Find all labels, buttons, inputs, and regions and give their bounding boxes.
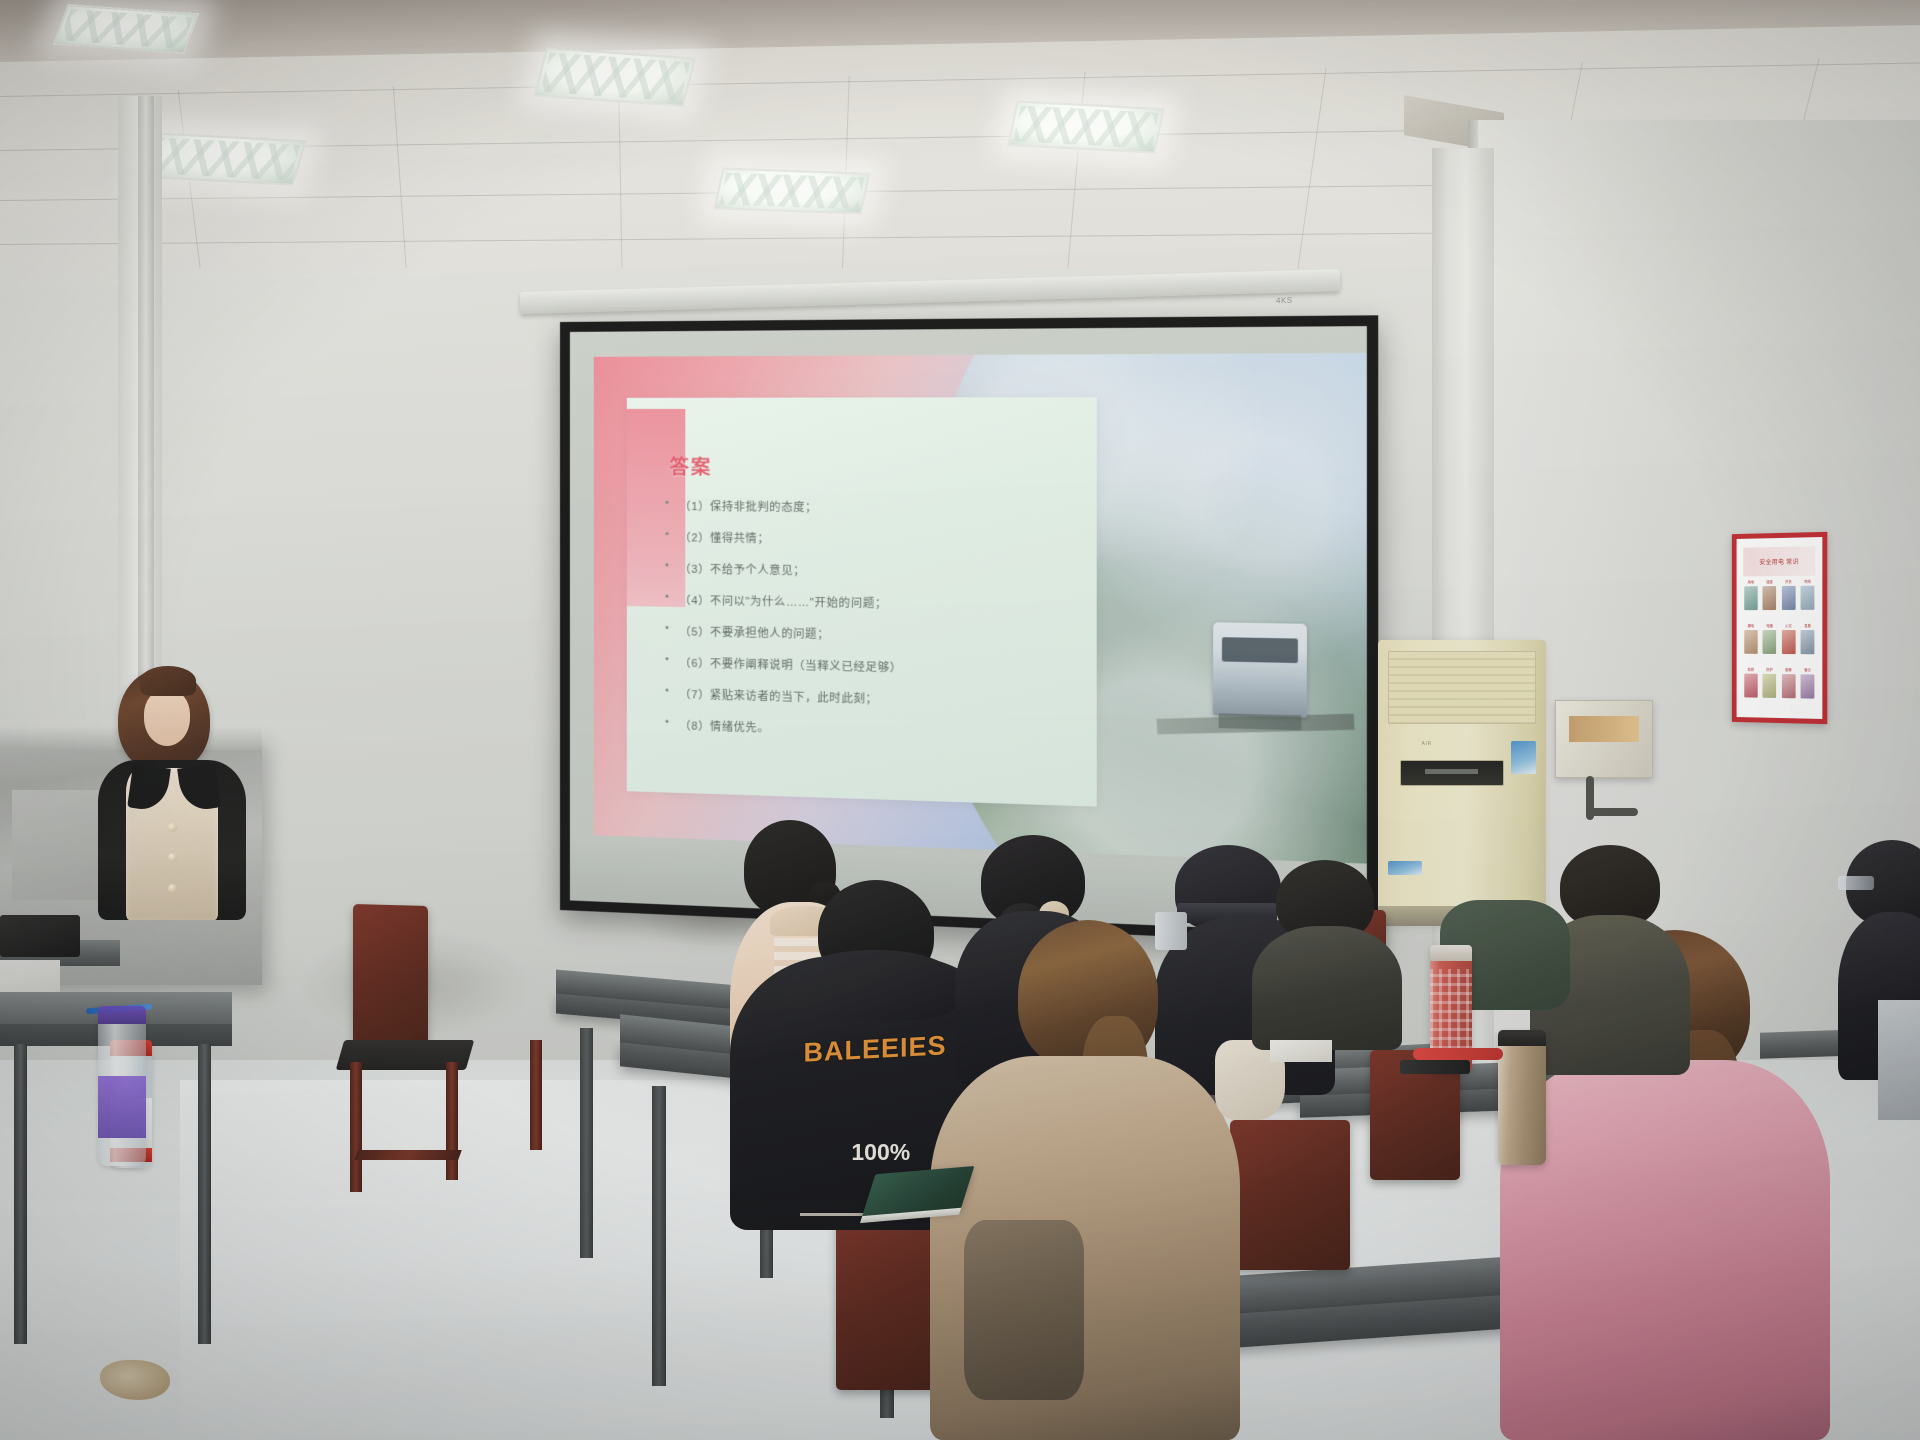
ac-brand-label: AIR — [1422, 741, 1432, 747]
desk-leg — [580, 1028, 593, 1258]
thermos-cap — [1498, 1030, 1546, 1046]
poster-cell-label: 开关 — [1785, 581, 1792, 585]
slide-bullet-text: （6）不要作阐释说明（当释义已经足够） — [680, 655, 902, 676]
poster-cell-label: 报警 — [1785, 669, 1792, 673]
ac-sticker — [1511, 741, 1536, 775]
poster-cell-icon — [1781, 674, 1795, 699]
bench-back[interactable] — [1230, 1120, 1350, 1270]
slide-bullet-item: • （6）不要作阐释说明（当释义已经足够） — [665, 654, 1070, 679]
student-tan-coat — [930, 920, 1240, 1440]
poster-cell-icon — [1801, 674, 1815, 699]
poster-cell-icon — [1781, 630, 1795, 654]
desk-leg — [198, 1044, 211, 1344]
lecturer-bangs — [140, 666, 196, 696]
poster-cell-icon — [1763, 586, 1777, 610]
bullet-marker: • — [665, 654, 669, 666]
poster-cell-icon — [1801, 586, 1815, 611]
paper-sheet[interactable] — [1270, 1040, 1332, 1062]
partial-figure-right — [1878, 1000, 1920, 1120]
vest-button — [168, 853, 177, 862]
bullet-marker: • — [665, 561, 669, 573]
slide-bullet-text: （2）懂得共情； — [680, 529, 770, 546]
poster-cell: 漏电 — [1742, 625, 1759, 667]
poster-cell: 插座 — [1761, 581, 1778, 623]
coat-shadow-fold — [964, 1220, 1084, 1400]
small-cup[interactable] — [1155, 912, 1187, 950]
poster-cell-label: 防护 — [1766, 669, 1773, 673]
bullet-marker: • — [665, 498, 669, 510]
lecturer-face — [144, 690, 190, 746]
slide-bullet-list: • （1）保持非批判的态度； • （2）懂得共情； • （3）不给予个人意见； — [665, 498, 1070, 760]
poster-cell-label: 漏电 — [1748, 625, 1755, 629]
ac-display-panel[interactable] — [1400, 760, 1504, 785]
poster-cell-icon — [1763, 630, 1777, 654]
draped-cloth — [0, 915, 80, 957]
poster-cell-label: 电器 — [1766, 625, 1773, 629]
poster-cell-label: 检修 — [1748, 669, 1755, 673]
slide-bullet-item: • （2）懂得共情； — [665, 529, 1070, 550]
slide-bullet-item: • （3）不给予个人意见； — [665, 561, 1070, 583]
poster-cell: 防护 — [1761, 669, 1778, 711]
eyeglasses — [1838, 876, 1874, 890]
vest-button — [168, 884, 177, 893]
poster-title: 安全用电 常识 — [1743, 546, 1815, 576]
ceiling-light-5 — [1007, 100, 1165, 153]
wall-mounted-service-box[interactable] — [1555, 700, 1653, 778]
chair-leg — [350, 1062, 362, 1192]
bottle-cap — [98, 1006, 146, 1024]
thermos-plaid-pattern — [1430, 969, 1472, 1049]
bullet-marker: • — [665, 717, 669, 729]
poster-cell: 开关 — [1780, 581, 1797, 623]
desk-leg — [14, 1044, 27, 1344]
poster-cell: 报警 — [1780, 669, 1797, 711]
slide-text-panel: 答案 • （1）保持非批判的态度； • （2）懂得共情； • （3）不给予个人意 — [626, 397, 1096, 807]
slide-bullet-item: • （5）不要承担他人的问题； — [665, 623, 1070, 647]
poster-icon-grid: 用电 插座 开关 电线 漏电 电器 火灾 急救 检修 防护 报警 警示 — [1742, 581, 1816, 712]
poster-cell-label: 插座 — [1766, 581, 1773, 585]
poster-cell: 急救 — [1799, 625, 1816, 667]
slide-bullet-item: • （1）保持非批判的态度； — [665, 498, 1070, 518]
poster-cell: 电器 — [1761, 625, 1778, 667]
poster-cell-label: 电线 — [1804, 581, 1811, 585]
poster-cell-icon — [1744, 673, 1758, 697]
presentation-slide: 答案 • （1）保持非批判的态度； • （2）懂得共情； • （3）不给予个人意 — [594, 353, 1367, 864]
water-bottle-purple-cap[interactable] — [98, 1006, 146, 1166]
bullet-marker: • — [665, 529, 669, 541]
empty-wooden-chair-back[interactable] — [353, 904, 428, 1056]
slide-bullet-item: • （8）情绪优先。 — [665, 717, 1070, 744]
poster-cell: 用电 — [1742, 581, 1759, 623]
thermos-cap — [1430, 945, 1472, 961]
ceiling-light-2 — [534, 47, 696, 107]
poster-cell-label: 火灾 — [1785, 625, 1792, 629]
green-notebook[interactable] — [862, 1166, 975, 1218]
poster-cell-icon — [1744, 630, 1758, 654]
desk-leg — [652, 1086, 666, 1386]
slide-bullet-text: （1）保持非批判的态度； — [680, 498, 818, 515]
chair-rail — [354, 1150, 462, 1160]
classroom-photo: 4KS 答案 • （1）保持非批判的态度； — [0, 0, 1920, 1440]
poster-cell-icon — [1781, 586, 1795, 610]
poster-cell-icon — [1801, 630, 1815, 654]
bottle-label — [98, 1076, 146, 1138]
chair-leg — [446, 1062, 458, 1180]
poster-cell: 火灾 — [1780, 625, 1797, 667]
bullet-marker: • — [665, 592, 669, 604]
ac-intake-grille — [1388, 651, 1536, 724]
slide-bullet-text: （4）不问以"为什么……"开始的问题； — [680, 592, 887, 612]
poster-cell: 电线 — [1799, 581, 1816, 623]
student-coat — [1252, 926, 1402, 1050]
stainless-steel-thermos[interactable] — [1498, 1030, 1546, 1165]
slide-bullet-item: • （4）不问以"为什么……"开始的问题； — [665, 592, 1070, 615]
ceiling-light-3 — [141, 132, 306, 185]
chair-leg — [530, 1040, 542, 1150]
slide-bullet-text: （7）紧贴来访者的当下，此时此刻； — [680, 686, 878, 707]
phone-on-desk[interactable] — [1400, 1060, 1470, 1074]
red-pencil-case[interactable] — [1413, 1048, 1503, 1060]
hoodie-graphic-subtext: 100% — [851, 1139, 910, 1166]
vest-button — [168, 823, 177, 832]
slide-bullet-text: （5）不要承担他人的问题； — [680, 623, 830, 642]
floor-standing-air-conditioner[interactable]: AIR — [1378, 640, 1546, 920]
ceiling-light-4 — [714, 168, 871, 215]
poster-cell: 警示 — [1799, 669, 1816, 711]
poster-cell-label: 急救 — [1804, 625, 1811, 629]
poster-cell-label: 用电 — [1748, 581, 1755, 585]
poster-cell: 检修 — [1742, 669, 1759, 711]
power-cable — [1586, 808, 1638, 816]
slide-title: 答案 — [670, 453, 713, 480]
slide-bullet-text: （8）情绪优先。 — [680, 717, 770, 736]
student-hoodie — [1500, 1060, 1830, 1440]
bullet-marker: • — [665, 623, 669, 635]
screen-rail-label: 4KS — [1276, 296, 1293, 305]
poster-cell-label: 警示 — [1804, 669, 1811, 673]
poster-cell-icon — [1763, 673, 1777, 697]
slide-bullet-text: （3）不给予个人意见； — [680, 561, 806, 579]
floor-reflection — [180, 1080, 800, 1440]
slide-bullet-item: • （7）紧贴来访者的当下，此时此刻； — [665, 686, 1070, 712]
bullet-marker: • — [665, 686, 669, 698]
poster-cell-icon — [1744, 586, 1758, 610]
wall-safety-poster: 安全用电 常识 用电 插座 开关 电线 漏电 电器 火灾 急救 检修 防护 报警… — [1732, 532, 1828, 724]
student-back-right — [1252, 860, 1402, 1050]
wall-box-face — [1569, 716, 1638, 742]
slide-train — [1213, 622, 1307, 717]
